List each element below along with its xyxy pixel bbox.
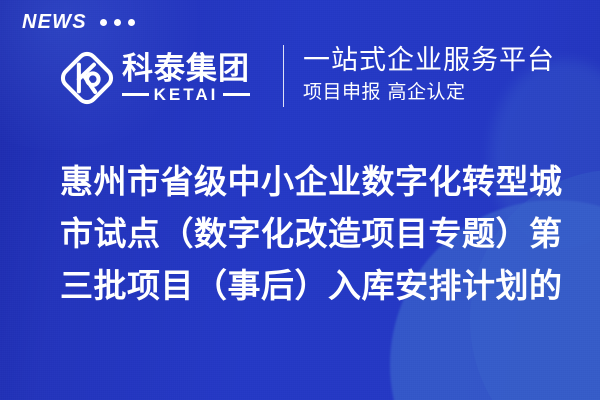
brand-lockup: 科泰集团 KETAI — [58, 43, 250, 113]
brand-rule-left — [122, 93, 149, 96]
news-dot-icon — [114, 19, 121, 26]
news-dots-icon — [100, 19, 135, 26]
headline-line: 市试点（数字化改造项目专题）第 — [60, 208, 560, 260]
tagline-sub: 项目申报 高企认定 — [303, 81, 555, 104]
news-label: NEWS — [22, 12, 87, 32]
brand-divider — [283, 45, 284, 107]
news-dot-icon — [100, 19, 107, 26]
news-eyebrow: NEWS — [22, 12, 135, 32]
news-dot-icon — [128, 19, 135, 26]
brand-wordmark: 科泰集团 KETAI — [122, 53, 250, 104]
ketai-diamond-monogram-icon — [58, 49, 116, 107]
brand-name-en-row: KETAI — [122, 86, 250, 103]
tagline-main: 一站式企业服务平台 — [303, 46, 555, 76]
brand-rule-right — [223, 93, 250, 96]
headline: 惠州市省级中小企业数字化转型城 市试点（数字化改造项目专题）第 三批项目（事后）… — [60, 156, 560, 312]
tagline-block: 一站式企业服务平台 项目申报 高企认定 — [303, 42, 555, 108]
news-banner: NEWS 科泰集团 K — [0, 0, 600, 400]
brand-name-cn: 科泰集团 — [122, 53, 250, 86]
headline-line: 惠州市省级中小企业数字化转型城 — [60, 156, 560, 208]
headline-line: 三批项目（事后）入库安排计划的 — [60, 260, 560, 312]
brand-name-en: KETAI — [154, 86, 219, 103]
